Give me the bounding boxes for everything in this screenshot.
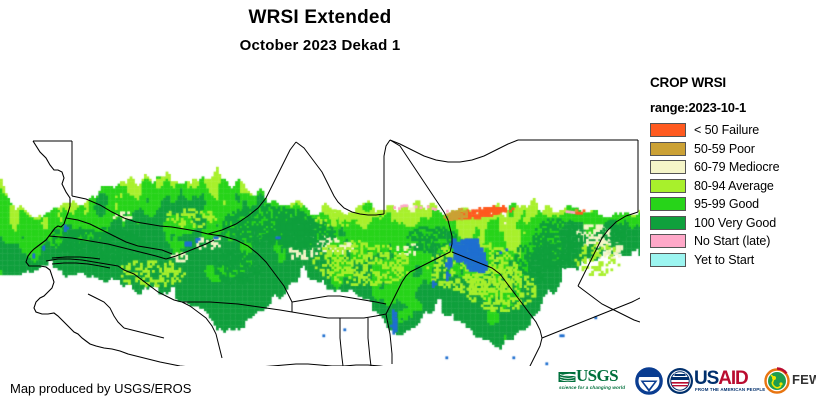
- admin-border-23: [368, 318, 371, 366]
- page-subtitle: October 2023 Dekad 1: [0, 37, 640, 54]
- legend-label-4: 95-99 Good: [694, 196, 759, 212]
- admin-border-12: [182, 302, 292, 312]
- nws-seal-icon: [666, 363, 694, 399]
- legend-item-4[interactable]: 95-99 Good: [650, 196, 816, 214]
- admin-border-2: [72, 196, 208, 234]
- legend-item-6[interactable]: No Start (late): [650, 233, 816, 251]
- map-panel[interactable]: [0, 66, 640, 366]
- page-title: WRSI Extended: [0, 7, 640, 29]
- admin-border-9: [88, 294, 124, 328]
- legend-panel: CROP WRSI range:2023-10-1 < 50 Failure50…: [646, 66, 816, 366]
- legend-swatch-1: [650, 142, 686, 156]
- admin-border-14: [208, 142, 296, 234]
- admin-border-26: [390, 140, 452, 272]
- admin-border-35: [292, 296, 386, 304]
- fews-net-wordmark: FEWS NET: [792, 372, 816, 387]
- map-credit: Map produced by USGS/EROS: [10, 381, 191, 396]
- legend-item-3[interactable]: 80-94 Average: [650, 178, 816, 196]
- admin-border-3: [66, 218, 172, 254]
- legend-swatch-7: [650, 253, 686, 267]
- noaa-logo[interactable]: [634, 363, 664, 399]
- legend-item-1[interactable]: 50-59 Poor: [650, 141, 816, 159]
- legend-item-0[interactable]: < 50 Failure: [650, 122, 816, 140]
- legend-label-0: < 50 Failure: [694, 122, 759, 138]
- admin-border-20: [578, 212, 638, 286]
- usaid-tagline: FROM THE AMERICAN PEOPLE: [695, 387, 765, 392]
- admin-border-27: [452, 252, 542, 366]
- usgs-logo[interactable]: USGS science for a changing world: [558, 363, 632, 399]
- nws-logo[interactable]: [666, 363, 694, 399]
- admin-border-15: [296, 142, 384, 215]
- country-boundaries-layer: [0, 66, 640, 366]
- legend-swatch-6: [650, 234, 686, 248]
- admin-border-16: [384, 140, 390, 214]
- legend-swatch-2: [650, 160, 686, 174]
- admin-border-8: [124, 270, 182, 302]
- usgs-tagline: science for a changing world: [559, 385, 625, 390]
- admin-border-21: [292, 312, 386, 318]
- admin-border-24: [386, 272, 410, 314]
- legend-swatch-0: [650, 123, 686, 137]
- partner-logos: USGS science for a changing world: [558, 363, 814, 399]
- admin-border-5: [46, 259, 124, 270]
- admin-border-29: [578, 286, 640, 322]
- usgs-wave-icon: [558, 370, 576, 384]
- legend-label-7: Yet to Start: [694, 252, 754, 268]
- legend-item-2[interactable]: 60-79 Mediocre: [650, 159, 816, 177]
- admin-border-22: [340, 318, 343, 366]
- legend-item-5[interactable]: 100 Very Good: [650, 215, 816, 233]
- legend-label-6: No Start (late): [694, 233, 770, 249]
- legend-swatch-3: [650, 179, 686, 193]
- legend-swatch-4: [650, 197, 686, 211]
- admin-border-28: [542, 298, 640, 338]
- admin-border-36: [166, 240, 214, 259]
- admin-border-25: [386, 314, 392, 364]
- noaa-seal-icon: [634, 363, 664, 399]
- legend-title: CROP WRSI: [650, 75, 726, 90]
- fews-globe-icon: [764, 363, 790, 399]
- legend-label-1: 50-59 Poor: [694, 141, 755, 157]
- admin-border-17: [390, 140, 518, 162]
- legend-label-5: 100 Very Good: [694, 215, 776, 231]
- usaid-us-text: US: [694, 368, 718, 389]
- legend-item-7[interactable]: Yet to Start: [650, 252, 816, 270]
- admin-border-group: [33, 140, 640, 366]
- coastline-group: [26, 141, 452, 366]
- legend-range-label: range:2023-10-1: [650, 100, 746, 115]
- admin-border-10: [124, 328, 164, 338]
- usgs-wordmark: USGS: [576, 366, 618, 386]
- admin-border-13: [208, 234, 292, 312]
- coastline-0: [26, 141, 452, 366]
- legend-swatch-5: [650, 216, 686, 230]
- admin-border-11: [182, 302, 222, 358]
- usaid-aid-text: AID: [718, 368, 747, 389]
- legend-label-3: 80-94 Average: [694, 178, 774, 194]
- legend-label-2: 60-79 Mediocre: [694, 159, 779, 175]
- admin-border-6: [52, 263, 110, 268]
- fews-net-logo[interactable]: FEWS NET: [764, 363, 816, 399]
- wrsi-map-page: WRSI Extended October 2023 Dekad 1 CROP …: [0, 0, 816, 403]
